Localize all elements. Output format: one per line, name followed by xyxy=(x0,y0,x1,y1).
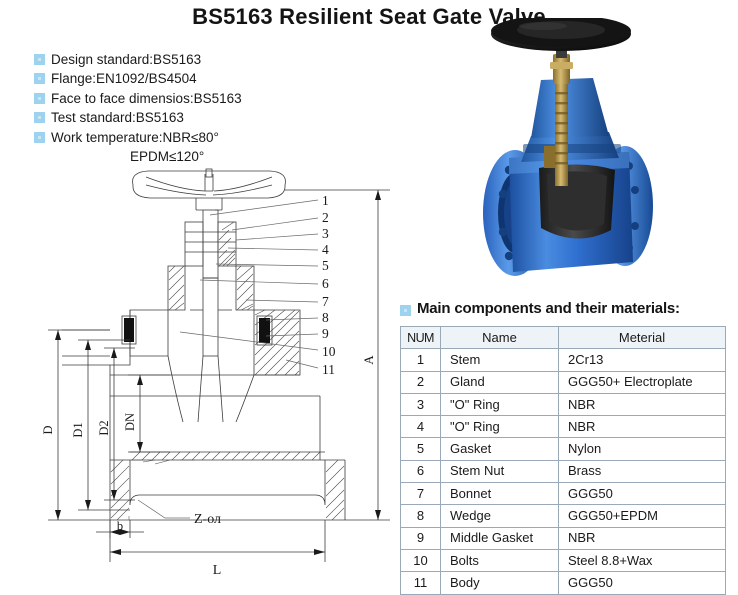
components-heading: Main components and their materials: xyxy=(400,300,680,317)
cell-num: 5 xyxy=(401,438,441,460)
cell-material: GGG50 xyxy=(559,572,726,594)
specification-list: Design standard:BS5163 Flange:EN1092/BS4… xyxy=(34,50,374,166)
table-row: 1 Stem 2Cr13 xyxy=(401,349,726,371)
cell-name: Bolts xyxy=(441,549,559,571)
cell-name: Middle Gasket xyxy=(441,527,559,549)
cell-material: 2Cr13 xyxy=(559,349,726,371)
table-row: 4 "O" Ring NBR xyxy=(401,416,726,438)
table-row: 7 Bonnet GGG50 xyxy=(401,483,726,505)
table-row: 9 Middle Gasket NBR xyxy=(401,527,726,549)
drawing-base xyxy=(110,452,345,520)
cell-num: 4 xyxy=(401,416,441,438)
table-row: 11 Body GGG50 xyxy=(401,572,726,594)
cell-num: 6 xyxy=(401,460,441,482)
callout-5: 5 xyxy=(322,258,329,273)
cell-material: Nylon xyxy=(559,438,726,460)
cell-material: NBR xyxy=(559,416,726,438)
cell-name: "O" Ring xyxy=(441,416,559,438)
spec-item: Flange:EN1092/BS4504 xyxy=(34,69,374,88)
cell-num: 9 xyxy=(401,527,441,549)
spec-item: Face to face dimensios:BS5163 xyxy=(34,89,374,108)
drawing-seal-outline xyxy=(122,316,272,345)
callout-11: 11 xyxy=(322,362,335,377)
cell-num: 1 xyxy=(401,349,441,371)
table-row: 6 Stem Nut Brass xyxy=(401,460,726,482)
drawing-body-section xyxy=(110,278,320,460)
table-row: 8 Wedge GGG50+EPDM xyxy=(401,505,726,527)
column-header-num: NUM xyxy=(401,327,441,349)
dimension-label-L: L xyxy=(213,563,222,578)
cell-name: "O" Ring xyxy=(441,393,559,415)
table-row: 10 Bolts Steel 8.8+Wax xyxy=(401,549,726,571)
drawing-seals xyxy=(124,318,270,343)
callout-9: 9 xyxy=(322,326,329,341)
cell-name: Stem xyxy=(441,349,559,371)
callout-7: 7 xyxy=(322,294,329,309)
bullet-square-icon xyxy=(34,112,45,123)
cell-name: Stem Nut xyxy=(441,460,559,482)
table-header-row: NUM Name Meterial xyxy=(401,327,726,349)
product-photo xyxy=(443,18,735,296)
dimension-label-DN: DN xyxy=(123,413,137,431)
bullet-square-icon xyxy=(34,132,45,143)
spec-item-label: Face to face dimensios:BS5163 xyxy=(51,89,242,108)
cell-material: GGG50 xyxy=(559,483,726,505)
callout-bolt-holes xyxy=(138,500,190,518)
cell-num: 2 xyxy=(401,371,441,393)
table-row: 3 "O" Ring NBR xyxy=(401,393,726,415)
cell-name: Gasket xyxy=(441,438,559,460)
callout-3: 3 xyxy=(322,226,329,241)
cell-material: Brass xyxy=(559,460,726,482)
components-heading-label: Main components and their materials: xyxy=(417,300,680,317)
column-header-material: Meterial xyxy=(559,327,726,349)
cell-name: Wedge xyxy=(441,505,559,527)
callout-4: 4 xyxy=(322,242,329,257)
spec-item-label: Work temperature:NBR≤80° xyxy=(51,128,219,147)
spec-item-label: Flange:EN1092/BS4504 xyxy=(51,69,197,88)
callout-10: 10 xyxy=(322,344,336,359)
drawing-stem-assembly xyxy=(168,210,254,310)
callout-1: 1 xyxy=(322,193,329,208)
dimension-label-A: A xyxy=(361,355,376,365)
spec-item: Work temperature:NBR≤80° xyxy=(34,128,374,147)
cell-name: Gland xyxy=(441,371,559,393)
cell-name: Bonnet xyxy=(441,483,559,505)
cell-material: GGG50+ Electroplate xyxy=(559,371,726,393)
table-row: 2 Gland GGG50+ Electroplate xyxy=(401,371,726,393)
cell-num: 10 xyxy=(401,549,441,571)
cell-num: 3 xyxy=(401,393,441,415)
cell-material: GGG50+EPDM xyxy=(559,505,726,527)
cell-num: 11 xyxy=(401,572,441,594)
callout-2: 2 xyxy=(322,210,329,225)
table-row: 5 Gasket Nylon xyxy=(401,438,726,460)
spec-item-label: Test standard:BS5163 xyxy=(51,108,184,127)
dimension-label-b: b xyxy=(117,519,123,533)
cell-material: NBR xyxy=(559,393,726,415)
photo-bonnet xyxy=(521,78,621,162)
dimension-label-D: D xyxy=(41,425,55,434)
dimension-A xyxy=(285,190,390,520)
cell-name: Body xyxy=(441,572,559,594)
column-header-name: Name xyxy=(441,327,559,349)
bullet-square-icon xyxy=(34,93,45,104)
spec-item-label: Design standard:BS5163 xyxy=(51,50,201,69)
cell-material: NBR xyxy=(559,527,726,549)
bullet-square-icon xyxy=(34,54,45,65)
cell-material: Steel 8.8+Wax xyxy=(559,549,726,571)
photo-handwheel xyxy=(491,18,631,51)
engineering-drawing: 1 2 3 4 5 6 7 8 9 10 11 A xyxy=(0,160,400,587)
callout-6: 6 xyxy=(322,276,329,291)
materials-table-body: 1 Stem 2Cr13 2 Gland GGG50+ Electroplate… xyxy=(401,349,726,594)
callout-8: 8 xyxy=(322,310,329,325)
bullet-square-icon xyxy=(34,73,45,84)
drawing-handwheel xyxy=(133,169,286,210)
materials-table: NUM Name Meterial 1 Stem 2Cr13 2 Gland G… xyxy=(400,326,726,595)
dimension-label-D1: D1 xyxy=(71,422,85,437)
spec-item: Test standard:BS5163 xyxy=(34,108,374,127)
dimension-label-bolt-holes: Z-ол xyxy=(194,512,221,527)
cell-num: 8 xyxy=(401,505,441,527)
spec-item: Design standard:BS5163 xyxy=(34,50,374,69)
cell-num: 7 xyxy=(401,483,441,505)
bullet-square-icon xyxy=(400,305,411,316)
dimension-label-D2: D2 xyxy=(97,420,111,435)
